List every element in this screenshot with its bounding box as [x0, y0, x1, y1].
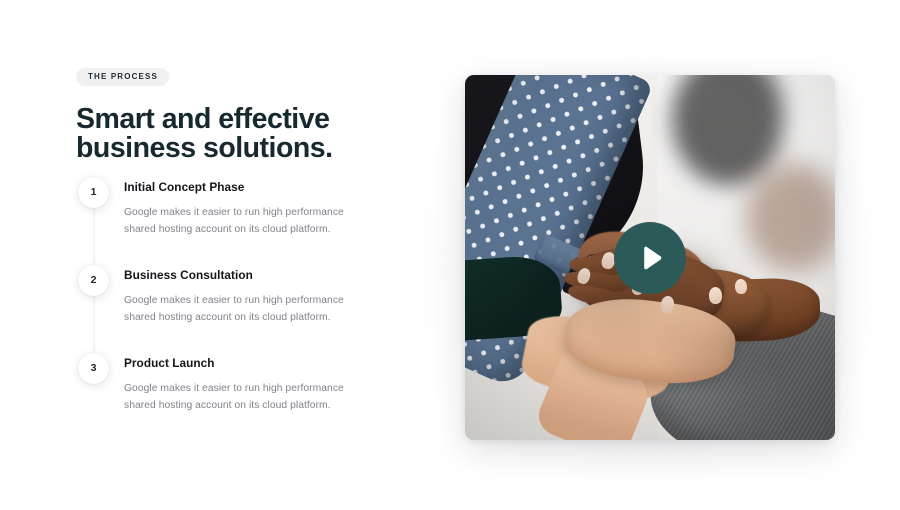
play-triangle-icon [638, 246, 663, 270]
step-title: Product Launch [124, 356, 396, 370]
process-section: THE PROCESS Smart and effective business… [0, 0, 900, 510]
step-marker-column: 3 [76, 353, 111, 384]
step-description: Google makes it easier to run high perfo… [124, 293, 374, 326]
list-item: 2 Business Consultation Google makes it … [76, 265, 396, 353]
list-item: 3 Product Launch Google makes it easier … [76, 353, 396, 415]
step-marker-column: 2 [76, 265, 111, 296]
step-content: Product Launch Google makes it easier to… [111, 353, 396, 415]
page-title: Smart and effective business solutions. [76, 105, 396, 164]
section-intro: THE PROCESS Smart and effective business… [76, 66, 396, 164]
play-video-button[interactable] [614, 222, 686, 294]
step-title: Business Consultation [124, 268, 396, 282]
process-steps-list: 1 Initial Concept Phase Google makes it … [76, 177, 396, 415]
step-description: Google makes it easier to run high perfo… [124, 205, 374, 238]
step-marker-column: 1 [76, 177, 111, 208]
step-title: Initial Concept Phase [124, 180, 396, 194]
step-number-badge: 3 [78, 353, 109, 384]
eyebrow-badge: THE PROCESS [76, 68, 169, 86]
step-content: Business Consultation Google makes it ea… [111, 265, 396, 327]
step-number-badge: 2 [78, 265, 109, 296]
list-item: 1 Initial Concept Phase Google makes it … [76, 177, 396, 265]
step-description: Google makes it easier to run high perfo… [124, 381, 374, 414]
step-content: Initial Concept Phase Google makes it ea… [111, 177, 396, 239]
step-number-badge: 1 [78, 177, 109, 208]
